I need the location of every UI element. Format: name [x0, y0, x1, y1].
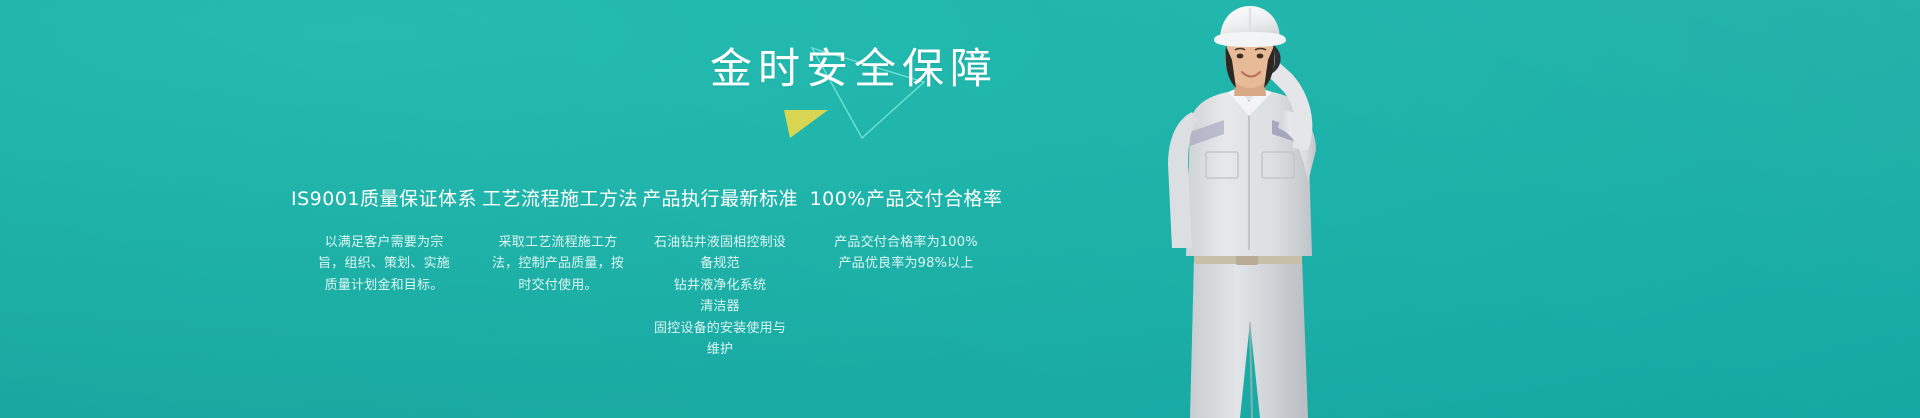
feature-body-3-line-4: 清洁器 [634, 296, 806, 317]
feature-body-3-line-2: 备规范 [634, 253, 806, 274]
banner-title-text: 金时安全保障 [710, 48, 998, 90]
feature-column-1: IS9001质量保证体系 以满足客户需要为宗 旨，组织、策划、实施 质量计划金和… [286, 188, 482, 296]
feature-columns: IS9001质量保证体系 以满足客户需要为宗 旨，组织、策划、实施 质量计划金和… [286, 188, 1054, 360]
feature-body-3: 石油钻井液固相控制设 备规范 钻井液净化系统 清洁器 固控设备的安装使用与 维护 [634, 232, 806, 361]
worker-photo [1132, 0, 1364, 418]
feature-body-2: 采取工艺流程施工方 法，控制产品质量，按 时交付使用。 [482, 232, 634, 296]
feature-body-3-line-3: 钻井液净化系统 [634, 275, 806, 296]
feature-body-3-line-1: 石油钻井液固相控制设 [634, 232, 806, 253]
yellow-triangle-decoration [784, 108, 828, 138]
feature-heading-4: 100%产品交付合格率 [806, 188, 1006, 211]
feature-body-1-line-3: 质量计划金和目标。 [286, 275, 482, 296]
feature-body-3-line-5: 固控设备的安装使用与 [634, 318, 806, 339]
feature-heading-2: 工艺流程施工方法 [482, 188, 634, 211]
feature-body-4-line-1: 产品交付合格率为100% [806, 232, 1006, 253]
feature-body-2-line-3: 时交付使用。 [482, 275, 634, 296]
feature-body-2-line-2: 法，控制产品质量，按 [482, 253, 634, 274]
feature-body-4: 产品交付合格率为100% 产品优良率为98%以上 [806, 232, 1006, 275]
feature-column-3: 产品执行最新标准 石油钻井液固相控制设 备规范 钻井液净化系统 清洁器 固控设备… [634, 188, 806, 360]
feature-body-4-line-2: 产品优良率为98%以上 [806, 253, 1006, 274]
feature-column-4: 100%产品交付合格率 产品交付合格率为100% 产品优良率为98%以上 [806, 188, 1006, 275]
feature-body-1: 以满足客户需要为宗 旨，组织、策划、实施 质量计划金和目标。 [286, 232, 482, 296]
banner-title: 金时安全保障 [0, 48, 1920, 90]
feature-body-2-line-1: 采取工艺流程施工方 [482, 232, 634, 253]
feature-heading-3: 产品执行最新标准 [634, 188, 806, 211]
feature-body-1-line-1: 以满足客户需要为宗 [286, 232, 482, 253]
safety-guarantee-banner: 金时安全保障 IS9001质量保证体系 以满足客户需要为宗 旨，组织、策划、实施… [0, 0, 1920, 418]
feature-heading-1: IS9001质量保证体系 [286, 188, 482, 211]
feature-body-3-line-6: 维护 [634, 339, 806, 360]
feature-body-1-line-2: 旨，组织、策划、实施 [286, 253, 482, 274]
feature-column-2: 工艺流程施工方法 采取工艺流程施工方 法，控制产品质量，按 时交付使用。 [482, 188, 634, 296]
